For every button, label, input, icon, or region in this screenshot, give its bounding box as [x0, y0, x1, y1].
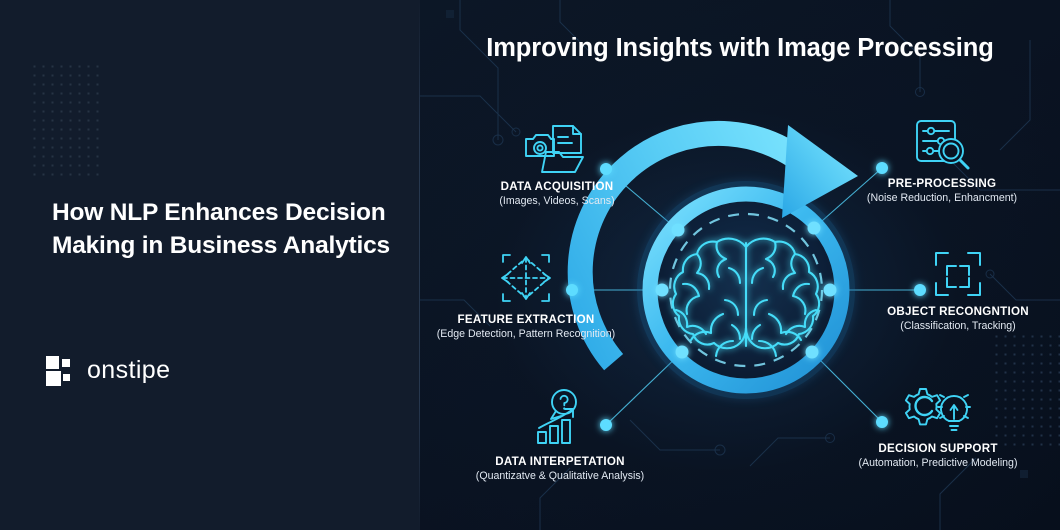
node-pre-processing[interactable]: PRE-PROCESSING (Noise Reduction, Enhancm… [832, 118, 1052, 205]
node-object-recognition[interactable]: OBJECT RECONGNTION (Classification, Trac… [858, 248, 1058, 333]
node-subtitle: (Quantizatve & Qualitative Analysis) [460, 470, 660, 483]
node-title: DATA ACQUISITION [464, 180, 650, 194]
camera-document-icon [520, 123, 594, 175]
brand-name: onstipe [87, 356, 170, 385]
page-title: How NLP Enhances Decision Making in Busi… [52, 196, 412, 262]
node-title: PRE-PROCESSING [832, 177, 1052, 191]
node-title: DATA INTERPETATION [460, 455, 660, 469]
node-subtitle: (Images, Videos, Scans) [464, 195, 650, 208]
panel-divider [419, 0, 420, 530]
squares-logo-icon [46, 355, 76, 385]
node-title: DECISION SUPPORT [824, 442, 1052, 456]
node-decision-support[interactable]: DECISION SUPPORT (Automation, Predictive… [824, 385, 1052, 470]
node-subtitle: (Noise Reduction, Enhancment) [832, 192, 1052, 205]
node-data-interpretation[interactable]: DATA INTERPETATION (Quantizatve & Qualit… [460, 388, 660, 483]
node-feature-extraction[interactable]: FEATURE EXTRACTION (Edge Detection, Patt… [426, 250, 626, 341]
node-network-brackets-icon [495, 250, 557, 308]
bar-chart-question-icon [529, 388, 591, 450]
right-panel: Improving Insights with Image Processing [420, 0, 1060, 530]
diagram-title: Improving Insights with Image Processing [420, 32, 1060, 66]
node-subtitle: (Classification, Tracking) [858, 320, 1058, 333]
sliders-magnifier-icon [909, 118, 975, 172]
left-panel: How NLP Enhances Decision Making in Busi… [0, 0, 420, 530]
node-subtitle: (Edge Detection, Pattern Recognition) [426, 328, 626, 341]
dot-grid-decoration [30, 62, 102, 182]
poster-canvas: How NLP Enhances Decision Making in Busi… [0, 0, 1060, 530]
node-title: FEATURE EXTRACTION [426, 313, 626, 327]
node-data-acquisition[interactable]: DATA ACQUISITION (Images, Videos, Scans) [464, 123, 650, 208]
focus-brackets-icon [930, 248, 986, 300]
brand-logo: onstipe [46, 355, 170, 385]
gear-lightbulb-icon [902, 385, 974, 437]
node-title: OBJECT RECONGNTION [858, 305, 1058, 319]
node-subtitle: (Automation, Predictive Modeling) [824, 457, 1052, 470]
